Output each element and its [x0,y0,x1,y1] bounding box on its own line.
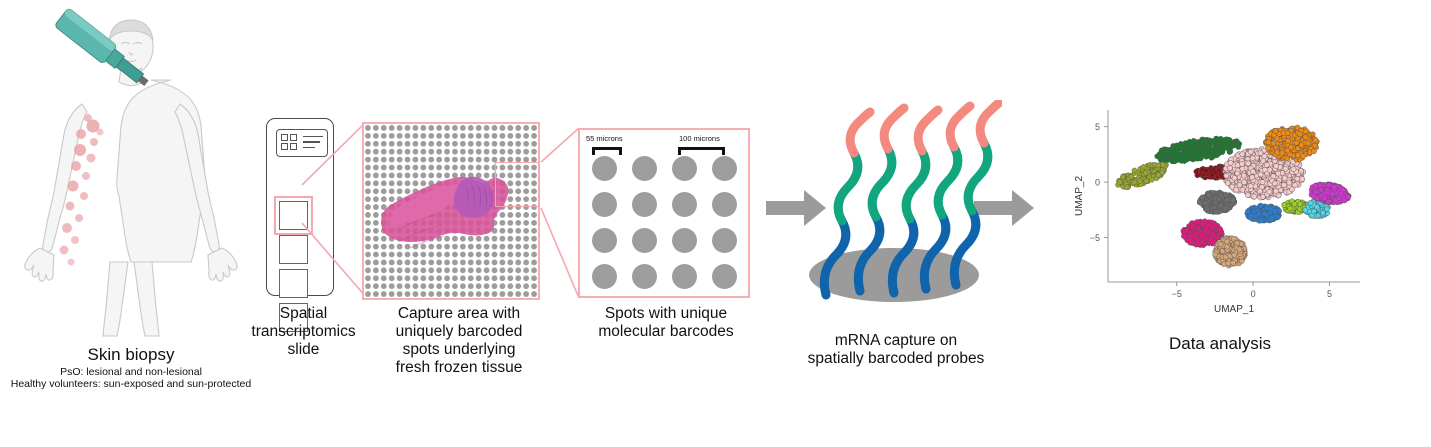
caption-skin-biopsy: Skin biopsy PsO: lesional and non-lesion… [0,345,262,390]
panel-skin-biopsy: Skin biopsy PsO: lesional and non-lesion… [0,0,262,400]
caption-slide: Spatial transcriptomics slide [246,305,361,359]
caption-skin-biopsy-sub2: Healthy volunteers: sun-exposed and sun-… [0,378,262,390]
caption-spots-line-2: molecular barcodes [580,323,752,341]
spot [632,264,657,289]
spot [592,228,617,253]
spot [712,264,737,289]
spot [632,192,657,217]
spot [592,156,617,181]
connector-capture-to-spots [536,120,582,305]
spot [672,264,697,289]
spot [672,192,697,217]
scale-label-55-microns: 55 microns [586,134,623,143]
caption-spots: Spots with unique molecular barcodes [580,305,752,341]
spot [712,156,737,181]
spot [632,156,657,181]
caption-probes-line-2: spatially barcoded probes [790,350,1002,368]
spot [592,264,617,289]
svg-text:0: 0 [1251,289,1256,299]
connector-slide-to-capture [300,115,370,305]
caption-skin-biopsy-main: Skin biopsy [0,345,262,365]
capture-subregion-highlight [495,162,540,207]
panel-mrna-capture [786,100,1002,310]
panel-umap-plot: −505−505UMAP_1UMAP_2 [1068,100,1368,325]
tissue-section-image [364,124,538,298]
spot [672,156,697,181]
caption-slide-line-3: slide [246,341,361,359]
caption-spots-line-1: Spots with unique [580,305,752,323]
barcoded-probes-illustration [786,100,1002,310]
caption-probes-line-1: mRNA capture on [790,332,1002,350]
spot [712,228,737,253]
spot [632,228,657,253]
caption-capture-line-1: Capture area with [380,305,538,323]
panel-capture-area [362,122,540,300]
caption-slide-line-2: transcriptomics [246,323,361,341]
svg-text:UMAP_1: UMAP_1 [1214,304,1254,315]
caption-skin-biopsy-sub1: PsO: lesional and non-lesional [0,366,262,378]
spot [592,192,617,217]
caption-capture-line-4: fresh frozen tissue [380,359,538,377]
umap-scatter-plot: −505−505UMAP_1UMAP_2 [1068,100,1368,325]
figure-canvas: Skin biopsy PsO: lesional and non-lesion… [0,0,1431,447]
caption-mrna-capture: mRNA capture on spatially barcoded probe… [790,332,1002,368]
caption-data-analysis: Data analysis [1090,334,1350,354]
svg-text:UMAP_2: UMAP_2 [1074,176,1085,216]
scale-label-100-microns: 100 microns [679,134,720,143]
scale-bar-100-microns [678,147,725,150]
spot [712,192,737,217]
qr-code-icon [281,134,299,152]
caption-capture-line-2: uniquely barcoded [380,323,538,341]
caption-slide-line-1: Spatial [246,305,361,323]
spot [672,228,697,253]
scale-bar-55-microns [592,147,622,150]
caption-capture-area: Capture area with uniquely barcoded spot… [380,305,538,378]
human-body-illustration [0,0,262,345]
panel-spots: 55 microns 100 microns [578,128,750,298]
svg-text:−5: −5 [1172,289,1182,299]
caption-capture-line-3: spots underlying [380,341,538,359]
svg-text:−5: −5 [1090,233,1100,243]
svg-text:5: 5 [1095,122,1100,132]
svg-text:0: 0 [1095,178,1100,188]
svg-text:5: 5 [1327,289,1332,299]
